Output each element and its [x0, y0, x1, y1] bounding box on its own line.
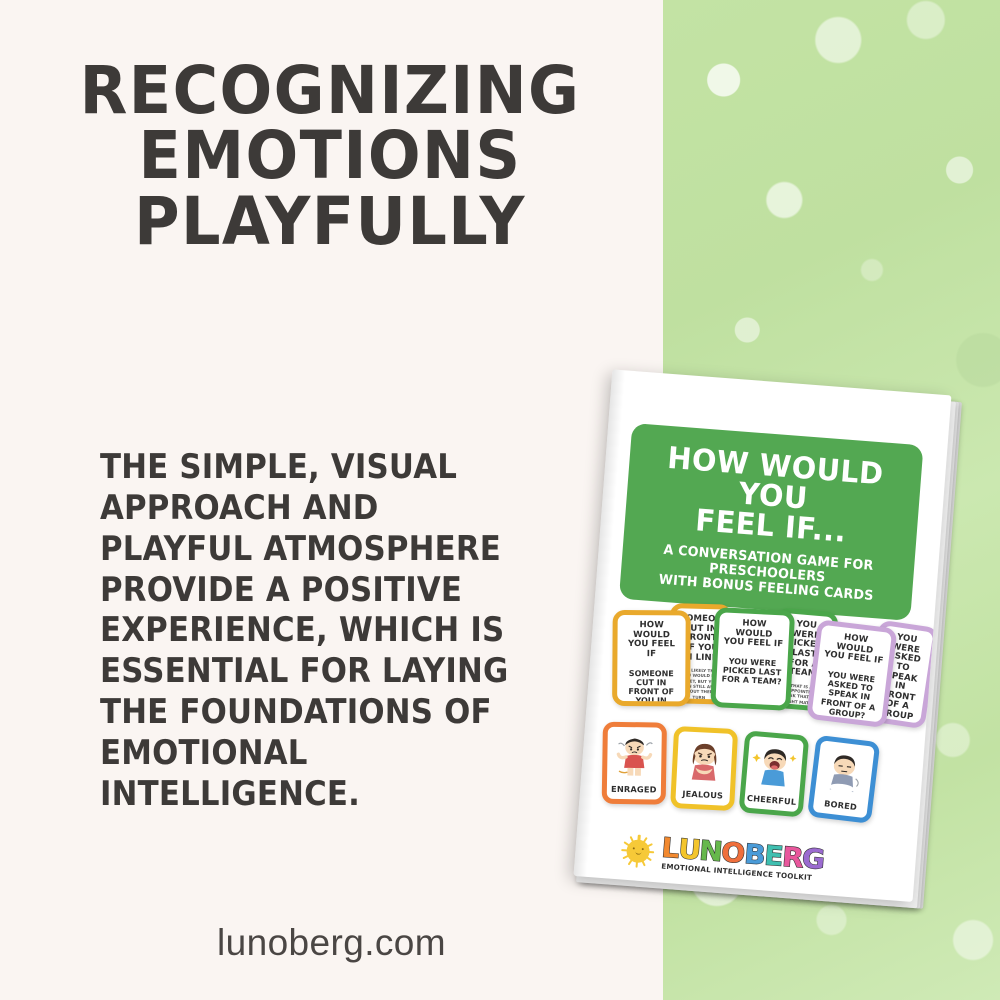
jealous-face-icon: [676, 734, 733, 789]
body-paragraph: The simple, visual approach and playful …: [100, 447, 523, 815]
question-card-body: Someone cut in front of you in line?: [622, 668, 680, 706]
question-card-orange: How would you feel if Someone cut in fro…: [612, 610, 691, 707]
book-mockup: How would you Feel if... A conversation …: [573, 369, 962, 914]
emotion-card-enraged: Enraged: [602, 722, 667, 805]
question-card-head: How would you feel if: [823, 631, 886, 667]
cover-title: How would you Feel if...: [640, 442, 907, 552]
bored-face-icon: [815, 743, 875, 801]
cheerful-face-icon: [745, 739, 803, 795]
brand-wordmark: LUNOBERG Emotional Intelligence Toolkit: [660, 835, 825, 883]
footer-website-url: lunoberg.com: [0, 922, 663, 964]
sun-icon: [620, 833, 655, 868]
emotion-card-jealous: Jealous: [670, 726, 738, 811]
brand-letter-g-7: G: [801, 846, 826, 875]
question-card-body: You were asked to speak in front of a gr…: [817, 669, 882, 722]
brand-letter-b-4: B: [743, 841, 766, 870]
headline-line-1: Recognizing: [20, 58, 640, 123]
emotion-card-label: Jealous: [676, 788, 730, 801]
headline-line-2: Emotions: [20, 123, 640, 188]
question-card-purple: How would you feel if You were asked to …: [806, 619, 897, 728]
emotion-card-label: Cheerful: [744, 793, 799, 808]
emotion-card-bored: Bored: [807, 735, 880, 824]
question-card-green: How would you feel if You were picked la…: [710, 607, 795, 711]
emotion-card-label: Enraged: [607, 784, 661, 795]
brand-letter-o-3: O: [720, 840, 745, 869]
question-card-head: How would you feel if: [622, 621, 680, 660]
book-cover: How would you Feel if... A conversation …: [573, 369, 951, 902]
question-card-body: You were picked last for a team?: [721, 656, 782, 687]
headline-line-3: Playfully: [20, 189, 640, 254]
emotion-card-cheerful: Cheerful: [739, 730, 810, 817]
question-card-head: How would you feel if: [723, 618, 784, 650]
page-title: Recognizing Emotions Playfully: [20, 58, 640, 254]
enraged-face-icon: [607, 730, 662, 783]
promo-graphic: Recognizing Emotions Playfully The simpl…: [0, 0, 1000, 1000]
